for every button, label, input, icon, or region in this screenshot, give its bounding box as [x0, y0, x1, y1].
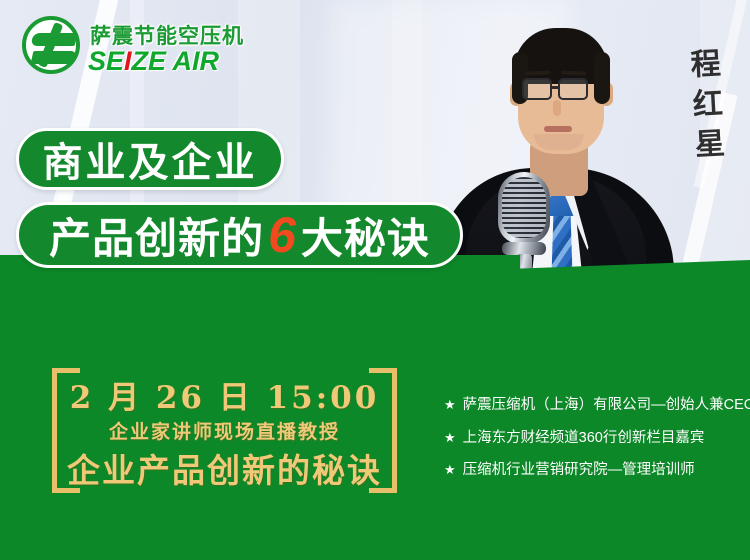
eyeglasses-bridge [551, 86, 560, 89]
headline-line-2: 产品创新的6大秘诀 [16, 202, 463, 268]
headline-line-2-before: 产品创新的 [49, 205, 264, 266]
headline-line-2-after: 大秘诀 [301, 205, 430, 266]
headline-number-six: 6 [264, 210, 301, 260]
list-item: ★ 压缩机行业营销研究院—管理培训师 [444, 461, 744, 481]
star-icon: ★ [444, 461, 456, 480]
microphone-head [498, 172, 550, 244]
brand-name-en: SEIZE AIR [88, 46, 219, 77]
brand-logo[interactable]: 萨震节能空压机 SEIZE AIR [22, 14, 242, 76]
microphone-grille [502, 177, 546, 238]
list-item: ★ 上海东方财经频道360行创新栏目嘉宾 [444, 429, 744, 449]
eyeglasses-lens-left [522, 78, 552, 100]
event-details-block: 2 月 26 日 15:00 企业家讲师现场直播教授 企业产品创新的秘诀 [52, 368, 397, 493]
credential-text: 压缩机行业营销研究院—管理培训师 [463, 461, 695, 481]
speaker-name-calligraphy: 程红星 [679, 47, 729, 169]
star-icon: ★ [444, 429, 456, 448]
eyeglasses-lens-right [558, 78, 588, 100]
event-topic: 企业产品创新的秘诀 [67, 444, 382, 492]
brand-en-part2: ZE AIR [132, 46, 220, 76]
event-subtitle: 企业家讲师现场直播教授 [109, 417, 340, 444]
headline-line-1: 商业及企业 [16, 128, 284, 190]
brand-en-red-letter: I [124, 46, 132, 76]
hair-side-right [594, 52, 610, 104]
credential-text: 上海东方财经频道360行创新栏目嘉宾 [463, 429, 705, 449]
credential-text: 萨震压缩机（上海）有限公司—创始人兼CEO [463, 396, 750, 416]
event-details-inner: 2 月 26 日 15:00 企业家讲师现场直播教授 企业产品创新的秘诀 [80, 368, 369, 493]
promo-banner: 萨震节能空压机 SEIZE AIR 程红星 商业及企业 产品创新的6大秘诀 2 … [0, 0, 750, 560]
star-icon: ★ [444, 396, 456, 415]
mouth [544, 126, 572, 132]
headline-line-1-text: 商业及企业 [43, 130, 258, 188]
event-datetime: 2 月 26 日 15:00 [70, 372, 380, 417]
credentials-list: ★ 萨震压缩机（上海）有限公司—创始人兼CEO ★ 上海东方财经频道360行创新… [444, 396, 744, 494]
brand-en-part1: SE [88, 46, 124, 76]
nose [553, 100, 561, 116]
list-item: ★ 萨震压缩机（上海）有限公司—创始人兼CEO [444, 396, 744, 416]
